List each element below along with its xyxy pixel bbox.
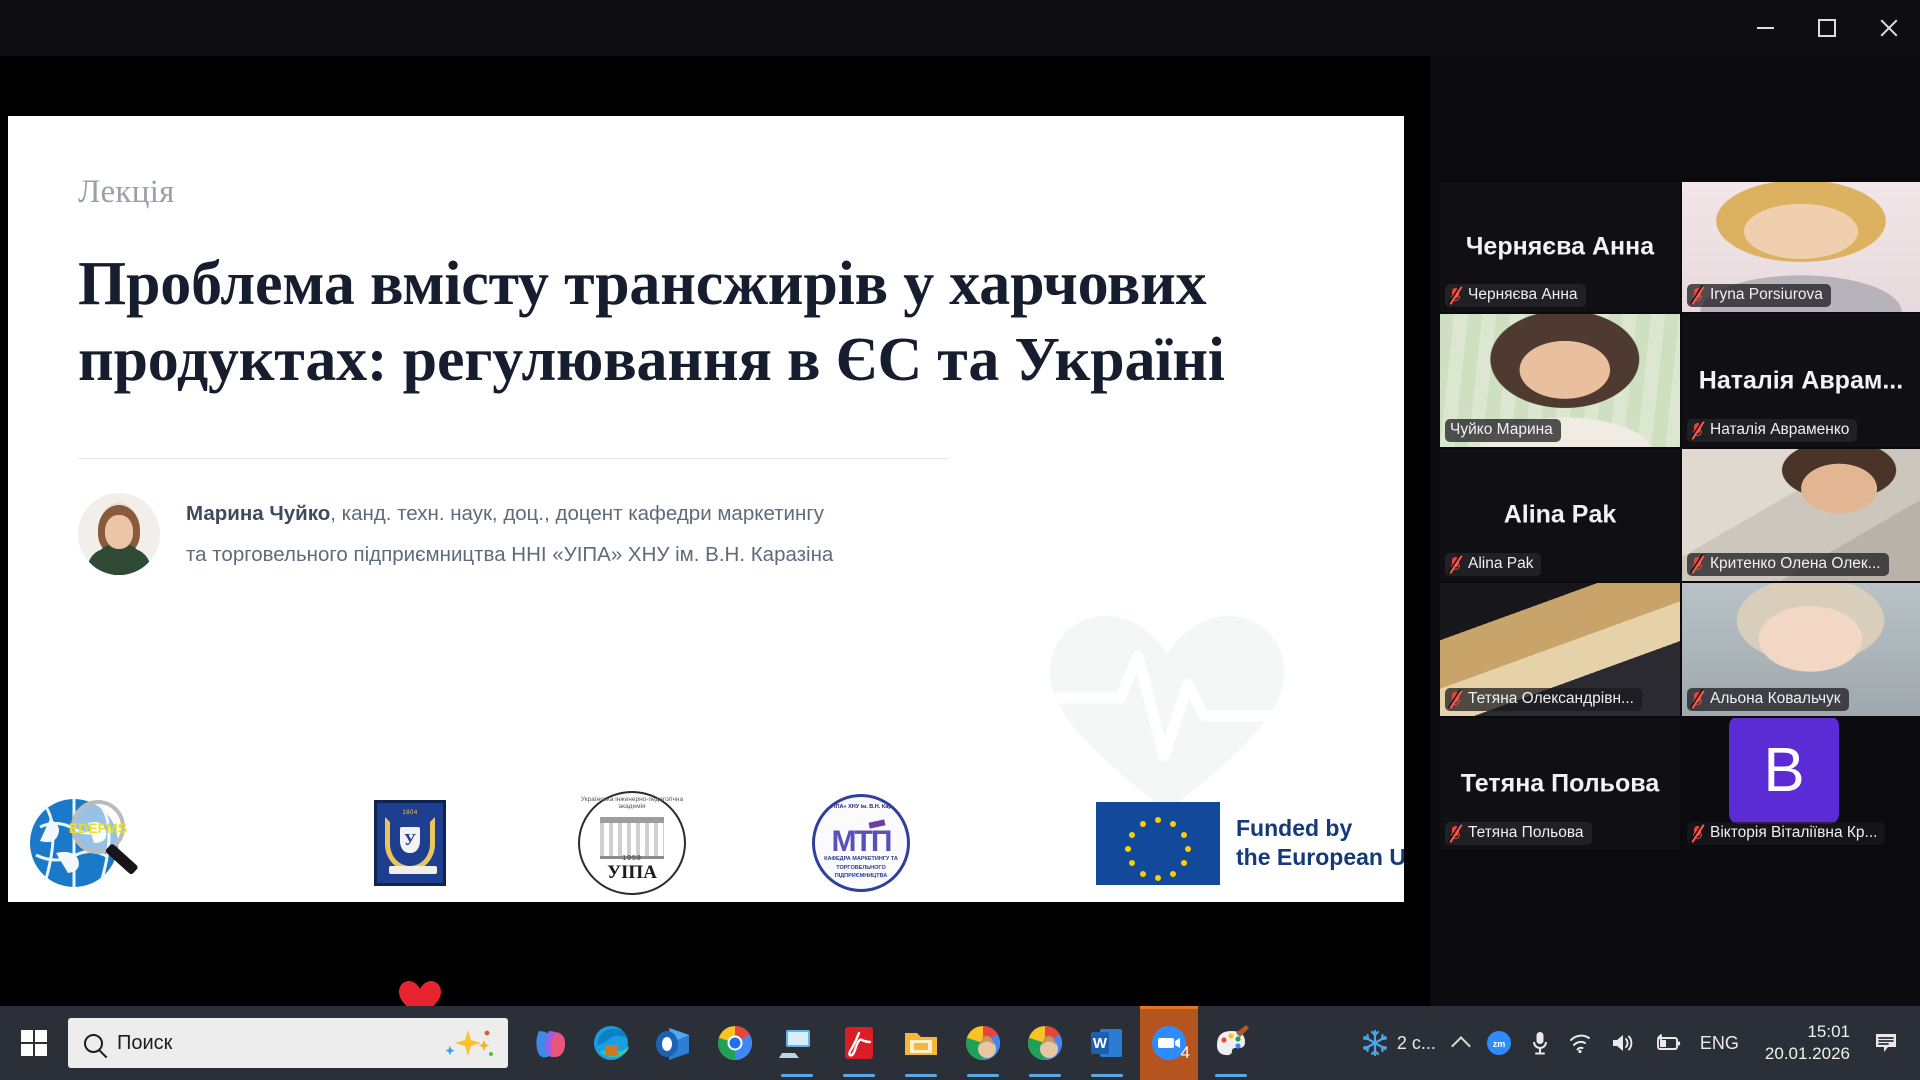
microphone-muted-icon: [1450, 691, 1463, 708]
microphone-muted-icon: [1450, 556, 1463, 573]
weather-temperature: 2 с...: [1397, 1033, 1436, 1054]
seal-building-icon: [600, 817, 664, 859]
language-code: ENG: [1700, 1033, 1739, 1054]
author-avatar: [78, 493, 160, 575]
participant-avatar-initial: [1729, 718, 1839, 824]
close-icon: [1878, 17, 1900, 39]
chrome-icon: [1025, 1023, 1065, 1063]
crest-year: 1804: [377, 810, 443, 816]
taskbar-app-zoom[interactable]: 4: [1140, 1006, 1198, 1080]
language-indicator[interactable]: ENG: [1694, 1006, 1745, 1080]
taskbar-open-indicator: [781, 1074, 813, 1077]
clock[interactable]: 15:01 20.01.2026: [1751, 1021, 1860, 1065]
taskbar-app-copilot[interactable]: [520, 1006, 578, 1080]
microphone-muted-icon: [1450, 825, 1463, 842]
file-explorer-icon: [901, 1023, 941, 1063]
taskbar-app-outlook[interactable]: [644, 1006, 702, 1080]
copilot-icon: [529, 1023, 569, 1063]
zoom-meeting-window: Лекція Проблема вмісту трансжирів у харч…: [0, 0, 1920, 1080]
taskbar-app-chrome[interactable]: [706, 1006, 764, 1080]
participant-tile[interactable]: Наталія Аврам... Наталія Авраменко: [1682, 314, 1920, 447]
eu-funding-logo: Funded by the European Union: [1096, 802, 1404, 885]
taskbar-open-indicator: [843, 1074, 875, 1077]
taskbar-open-indicator: [905, 1074, 937, 1077]
battery-icon[interactable]: [1648, 1006, 1688, 1080]
eu-flag-icon: [1096, 802, 1220, 885]
taskbar-app-edge[interactable]: [582, 1006, 640, 1080]
mtp-department-logo: ННІ «УІПА» ХНУ ім. В.Н. Каразіна МТП КАФ…: [812, 794, 910, 892]
microphone-muted-icon: [1450, 287, 1463, 304]
participant-name-text: Тетяна Олександрівн...: [1468, 690, 1634, 708]
minimize-button[interactable]: [1734, 5, 1796, 51]
taskbar-open-indicator: [1029, 1074, 1061, 1077]
display-settings-icon: [777, 1023, 817, 1063]
microphone-muted-icon: [1692, 825, 1705, 842]
avatar-initial-block: [1729, 718, 1839, 824]
window-title-bar: [0, 0, 1920, 56]
svg-text:EDEFMS: EDEFMS: [69, 820, 127, 836]
participant-name-text: Критенко Олена Олек...: [1710, 555, 1881, 573]
crest-letter: У: [400, 827, 420, 853]
taskbar-app-list: W 4: [520, 1006, 1260, 1080]
microphone-icon[interactable]: [1524, 1006, 1556, 1080]
outlook-icon: [653, 1023, 693, 1063]
show-hidden-icons-button[interactable]: [1448, 1006, 1474, 1080]
taskbar-app-word[interactable]: W: [1078, 1006, 1136, 1080]
author-description: Марина Чуйко, канд. техн. наук, доц., до…: [186, 493, 833, 575]
acrobat-icon: [839, 1023, 879, 1063]
shared-screen-slide[interactable]: Лекція Проблема вмісту трансжирів у харч…: [8, 116, 1404, 902]
participant-name-label: Наталія Авраменко: [1687, 419, 1857, 442]
participant-name-label: Чуйко Марина: [1445, 419, 1561, 442]
taskbar-app-chrome-profile-2[interactable]: [1016, 1006, 1074, 1080]
minimize-icon: [1757, 27, 1774, 29]
participant-tile[interactable]: Alina Pak Alina Pak: [1440, 449, 1680, 581]
participant-name-text: Alina Pak: [1468, 555, 1533, 573]
participant-name-label: Iryna Porsiurova: [1687, 284, 1831, 307]
eu-line-1: Funded by: [1236, 814, 1404, 843]
participant-name-text: Вікторія Віталіївна Кр...: [1710, 824, 1877, 842]
eu-line-2: the European Union: [1236, 843, 1404, 872]
tray-zoom-icon[interactable]: zm: [1480, 1006, 1518, 1080]
participant-tile[interactable]: Черняєва Анна Черняєва Анна: [1440, 182, 1680, 312]
microphone-muted-icon: [1692, 556, 1705, 573]
participant-name-text: Черняєва Анна: [1468, 286, 1578, 304]
taskbar-app-chrome-profile-1[interactable]: [954, 1006, 1012, 1080]
chrome-icon: [963, 1023, 1003, 1063]
participant-tile[interactable]: Альона Ковальчук: [1682, 583, 1920, 716]
slide-title: Проблема вмісту трансжирів у харчових пр…: [78, 247, 1238, 398]
seal-year: 1958: [578, 855, 686, 862]
windows-logo-icon: [21, 1030, 47, 1056]
network-icon[interactable]: [1562, 1006, 1598, 1080]
microphone-muted-icon: [1692, 422, 1705, 439]
taskbar-open-indicator: [967, 1074, 999, 1077]
svg-text:W: W: [1093, 1035, 1108, 1052]
participant-tile[interactable]: Критенко Олена Олек...: [1682, 449, 1920, 581]
clock-time: 15:01: [1765, 1021, 1850, 1043]
taskbar-open-indicator: [1091, 1074, 1123, 1077]
crest-ribbon: [389, 866, 437, 874]
microphone-muted-icon: [1692, 691, 1705, 708]
slide-logo-strip: EDEFMS 1804 У Українська інженерно-педаг…: [8, 784, 1404, 902]
word-icon: W: [1087, 1023, 1127, 1063]
seal-arc-text: Українська інженерно-педагогічна академі…: [578, 796, 686, 810]
weather-widget[interactable]: 2 с...: [1354, 1006, 1442, 1080]
participant-name-label: Черняєва Анна: [1445, 284, 1586, 307]
participant-display-name: Тетяна Польова: [1440, 770, 1680, 799]
zoom-badge-count: 4: [1181, 1043, 1190, 1063]
snowflake-icon: [1360, 1028, 1390, 1058]
author-affiliation: та торговельного підприємництва ННІ «УІП…: [186, 534, 833, 575]
author-credentials: , канд. техн. наук, доц., доцент кафедри…: [330, 502, 824, 525]
participant-tile[interactable]: Тетяна Олександрівн...: [1440, 583, 1680, 716]
participant-name-text: Тетяна Польова: [1468, 824, 1584, 842]
taskbar-app-display[interactable]: [768, 1006, 826, 1080]
taskbar-app-file-explorer[interactable]: [892, 1006, 950, 1080]
eu-funding-text: Funded by the European Union: [1236, 814, 1404, 873]
chrome-icon: [715, 1023, 755, 1063]
search-input[interactable]: Поиск: [117, 1032, 424, 1055]
participant-tile[interactable]: Тетяна Польова Тетяна Польова: [1440, 718, 1680, 850]
participant-name-label: Критенко Олена Олек...: [1687, 553, 1889, 576]
copilot-sparkle-icon[interactable]: [438, 1026, 496, 1060]
participant-tile[interactable]: Вікторія Віталіївна Кр...: [1682, 718, 1920, 850]
close-button[interactable]: [1858, 5, 1920, 51]
seal-abbr: УІПА: [578, 862, 686, 884]
participant-name-label: Alina Pak: [1445, 553, 1541, 576]
start-button[interactable]: [0, 1006, 68, 1080]
volume-icon[interactable]: [1604, 1006, 1642, 1080]
taskbar-app-paint[interactable]: [1202, 1006, 1260, 1080]
chevron-up-icon: [1451, 1036, 1471, 1056]
notifications-button[interactable]: [1866, 1006, 1906, 1080]
uipa-seal-logo: Українська інженерно-педагогічна академі…: [578, 791, 686, 895]
mtp-abbr: МТП: [815, 825, 907, 859]
svg-text:zm: zm: [1493, 1039, 1506, 1049]
slide-kicker: Лекція: [78, 174, 1334, 211]
participants-panel[interactable]: Черняєва Анна Черняєва Анна Iryna Porsiu…: [1430, 56, 1920, 1006]
edefms-logo: EDEFMS: [16, 793, 166, 893]
participant-name-label: Тетяна Польова: [1445, 822, 1592, 845]
slide-divider: [78, 458, 948, 459]
participant-display-name: Alina Pak: [1440, 501, 1680, 530]
participant-tile-active-speaker[interactable]: Чуйко Марина: [1440, 314, 1680, 447]
university-crest-logo: 1804 У: [374, 800, 446, 886]
notification-icon: [1872, 1030, 1900, 1056]
participant-name-text: Чуйко Марина: [1450, 421, 1553, 439]
edge-icon: [591, 1023, 631, 1063]
search-box[interactable]: Поиск: [68, 1018, 508, 1068]
clock-date: 20.01.2026: [1765, 1043, 1850, 1065]
slide-content: Лекція Проблема вмісту трансжирів у харч…: [8, 116, 1404, 902]
participant-name-text: Альона Ковальчук: [1710, 690, 1841, 708]
mtp-top-text: ННІ «УІПА» ХНУ ім. В.Н. Каразіна: [815, 804, 907, 812]
restore-icon: [1818, 19, 1836, 37]
participant-name-text: Iryna Porsiurova: [1710, 286, 1823, 304]
participant-tile[interactable]: Iryna Porsiurova: [1682, 182, 1920, 312]
taskbar-app-acrobat[interactable]: [830, 1006, 888, 1080]
mtp-bottom-text: КАФЕДРА МАРКЕТИНГУ ТА ТОРГОВЕЛЬНОГО ПІДП…: [815, 855, 907, 880]
search-icon: [84, 1034, 103, 1053]
slide-byline: Марина Чуйко, канд. техн. наук, доц., до…: [78, 493, 1334, 575]
windows-taskbar: Поиск: [0, 1006, 1920, 1080]
participant-display-name: Наталія Аврам...: [1682, 366, 1920, 395]
system-tray: 2 с... zm ENG: [1354, 1006, 1920, 1080]
participant-name-label: Тетяна Олександрівн...: [1445, 688, 1642, 711]
restore-button[interactable]: [1796, 5, 1858, 51]
participant-name-label: Вікторія Віталіївна Кр...: [1687, 822, 1885, 845]
microphone-muted-icon: [1692, 287, 1705, 304]
paint-icon: [1211, 1023, 1251, 1063]
taskbar-open-indicator: [1215, 1074, 1247, 1077]
author-name: Марина Чуйко: [186, 502, 330, 525]
participant-name-label: Альона Ковальчук: [1687, 688, 1849, 711]
participant-name-text: Наталія Авраменко: [1710, 421, 1849, 439]
participant-display-name: Черняєва Анна: [1440, 233, 1680, 262]
